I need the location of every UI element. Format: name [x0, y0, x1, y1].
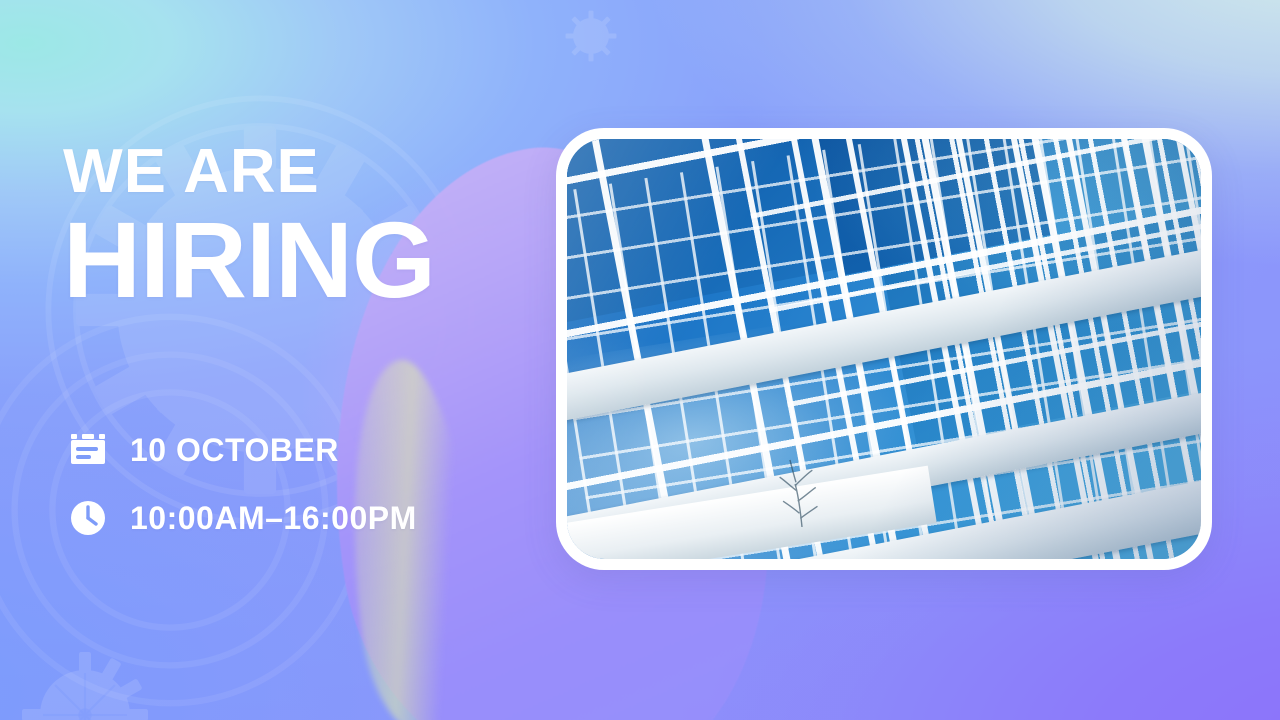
gear-bottom-left-watermark-icon [10, 640, 160, 720]
photo-card-inner [567, 139, 1201, 559]
poster-canvas: WE ARE HIRING 10 OCT [0, 0, 1280, 720]
headline-line-2: HIRING [63, 209, 435, 311]
headline-line-1: WE ARE [63, 142, 442, 203]
calendar-icon [66, 428, 110, 472]
gear-small-top-watermark-icon [560, 5, 622, 67]
photo-card [556, 128, 1212, 570]
detail-text-date: 10 OCTOBER [130, 432, 339, 469]
photo-tree-branch-silhouette [757, 441, 847, 527]
building-photo [567, 139, 1201, 559]
detail-text-time: 10:00AM–16:00PM [130, 500, 417, 537]
detail-row-time: 10:00AM–16:00PM [66, 496, 417, 540]
headline-block: WE ARE HIRING [63, 142, 435, 310]
clock-icon [66, 496, 110, 540]
detail-row-date: 10 OCTOBER [66, 428, 417, 472]
event-details-block: 10 OCTOBER 10:00AM–16:00PM [66, 428, 417, 564]
